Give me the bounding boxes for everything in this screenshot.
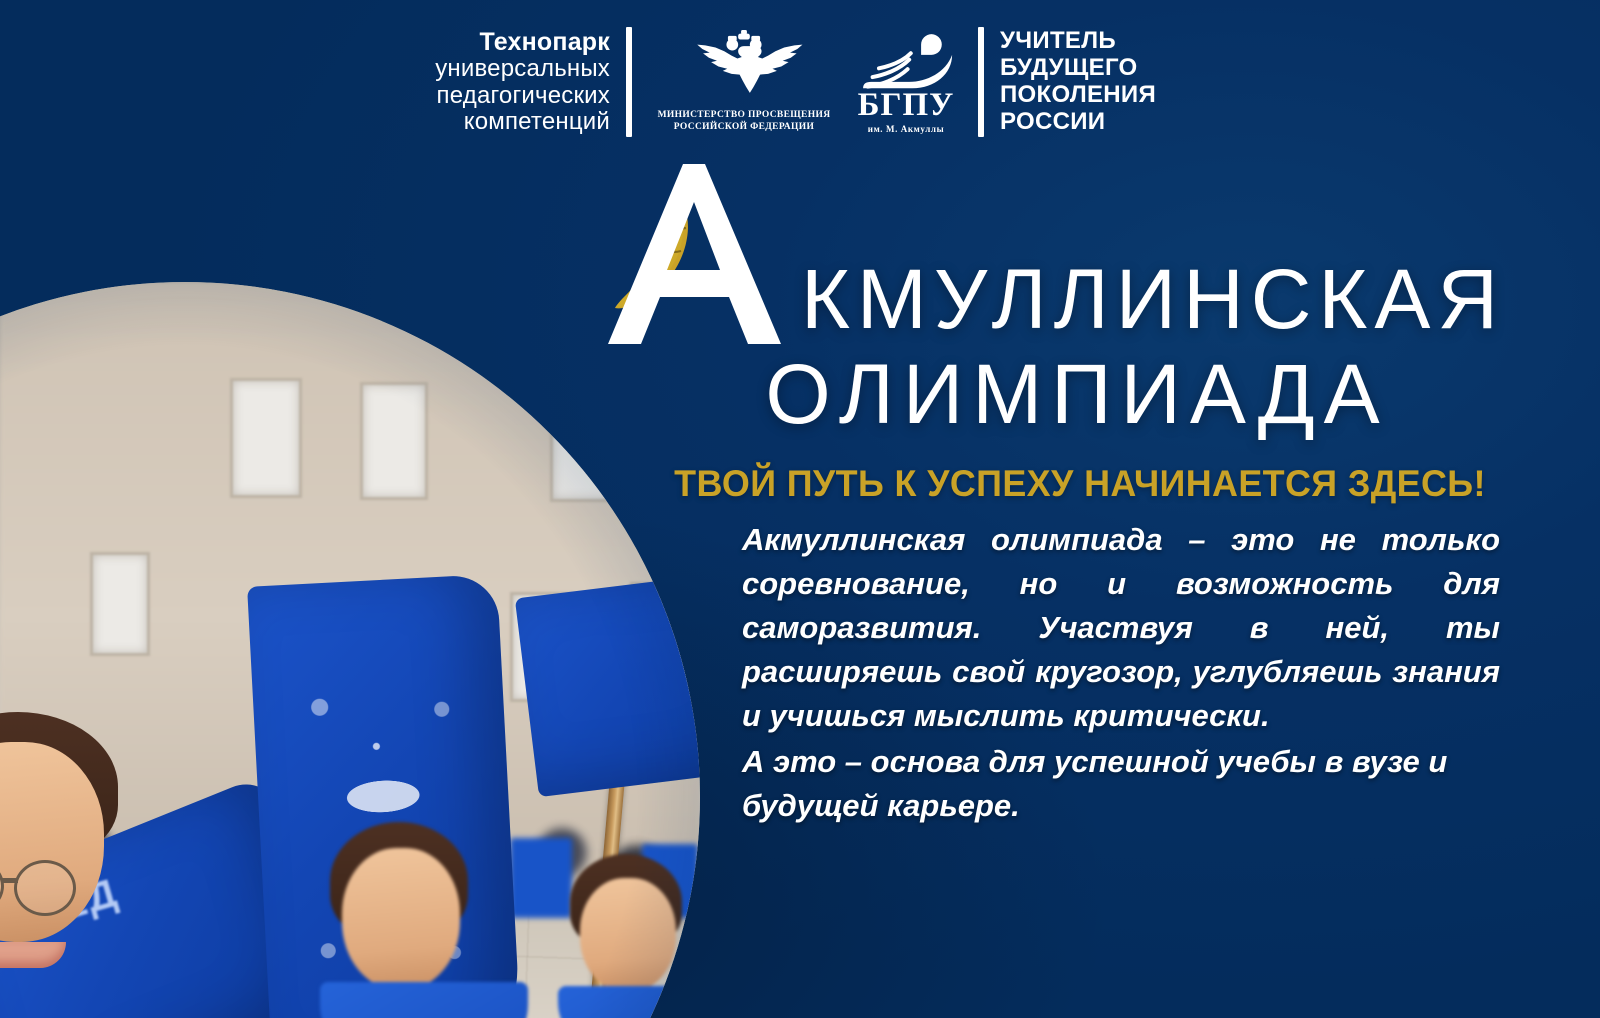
bgpu-swan-wave-icon — [858, 31, 954, 93]
letter-a-glyph — [608, 164, 781, 344]
neck-scarf — [320, 982, 528, 1018]
technopark-line-2: универсальных — [390, 56, 610, 83]
face — [580, 878, 676, 992]
bgpu-logo: БГПУ им. М. Акмуллы — [848, 31, 964, 134]
window — [360, 382, 428, 500]
header-logo-strip: Технопарк универсальных педагогических к… — [390, 18, 1180, 146]
glasses-right-lens — [14, 860, 76, 916]
slogan-line-3: ПОКОЛЕНИЯ — [1000, 82, 1156, 109]
flag-right — [515, 567, 700, 797]
ministry-logo: МИНИСТЕРСТВО ПРОСВЕЩЕНИЯ РОССИЙСКОЙ ФЕДЕ… — [644, 30, 844, 134]
logo-divider-right — [978, 27, 984, 137]
face — [342, 848, 460, 990]
glasses-bridge — [2, 878, 18, 883]
ministry-caption: МИНИСТЕРСТВО ПРОСВЕЩЕНИЯ РОССИЙСКОЙ ФЕДЕ… — [658, 110, 831, 134]
title-line-2: ОЛИМПИАДА — [575, 346, 1585, 443]
logo-divider-left — [626, 27, 632, 137]
poster-root: ПЕД — [0, 0, 1600, 1018]
bgpu-subtitle: им. М. Акмуллы — [868, 124, 944, 134]
title-block: КМУЛЛИНСКАЯ ОЛИМПИАДА ТВОЙ ПУТЬ К УСПЕХУ… — [575, 160, 1585, 505]
technopark-line-1: Технопарк — [390, 28, 610, 56]
title-line-1: КМУЛЛИНСКАЯ — [801, 261, 1505, 338]
teacher-slogan: УЧИТЕЛЬ БУДУЩЕГО ПОКОЛЕНИЯ РОССИИ — [1000, 28, 1156, 136]
technopark-wordmark: Технопарк универсальных педагогических к… — [390, 28, 626, 137]
technopark-line-4: компетенций — [390, 109, 610, 136]
window — [90, 552, 150, 656]
ministry-caption-line-1: МИНИСТЕРСТВО ПРОСВЕЩЕНИЯ — [658, 110, 831, 122]
window — [230, 378, 302, 498]
title-first-row: КМУЛЛИНСКАЯ — [575, 160, 1585, 352]
technopark-line-3: педагогических — [390, 83, 610, 110]
bgpu-abbreviation: БГПУ — [858, 89, 955, 122]
description-paragraph-2: А это – основа для успешной учебы в вузе… — [742, 740, 1500, 828]
slogan-line-4: РОССИИ — [1000, 109, 1156, 136]
golden-quill-feather-letter-a-icon — [580, 160, 795, 352]
slogan-line-1: УЧИТЕЛЬ — [1000, 28, 1156, 55]
ministry-caption-line-2: РОССИЙСКОЙ ФЕДЕРАЦИИ — [658, 122, 831, 134]
description-text: Акмуллинская олимпиада – это не только с… — [742, 518, 1500, 828]
description-paragraph-1: Акмуллинская олимпиада – это не только с… — [742, 518, 1500, 738]
slogan-line-2: БУДУЩЕГО — [1000, 55, 1156, 82]
neck-scarf — [558, 986, 700, 1018]
background-flag — [510, 838, 572, 918]
tagline: ТВОЙ ПУТЬ К УСПЕХУ НАЧИНАЕТСЯ ЗДЕСЬ! — [590, 463, 1570, 505]
double-headed-eagle-icon — [685, 30, 803, 106]
